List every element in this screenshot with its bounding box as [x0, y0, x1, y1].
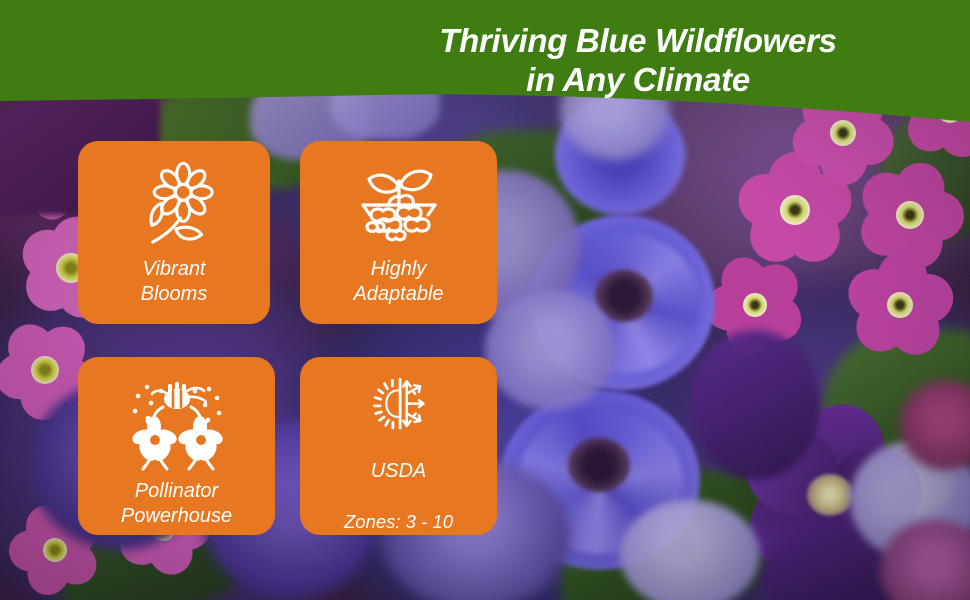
feature-card-label: Vibrant Blooms [141, 257, 208, 307]
feature-card-label: Pollinator Powerhouse [121, 479, 232, 529]
marketing-banner: Thriving Blue Wildflowers in Any Climate… [0, 0, 970, 600]
feature-card-pollinator-powerhouse[interactable]: Pollinator Powerhouse [78, 357, 275, 535]
feature-card-label: USDA Zones: 3 - 10 [344, 434, 453, 535]
usda-label-line: USDA [371, 460, 427, 482]
sun-snowflake-icon [349, 377, 449, 430]
seedling-in-rocky-soil-icon [349, 161, 449, 253]
feature-card-vibrant-blooms[interactable]: Vibrant Blooms [78, 141, 270, 324]
page-title: Thriving Blue Wildflowers in Any Climate [328, 21, 948, 100]
feature-card-label: Highly Adaptable [353, 257, 443, 307]
bee-pollinating-flowers-icon [121, 377, 233, 475]
daisy-flower-icon [128, 161, 220, 253]
feature-card-usda-zones[interactable]: USDA Zones: 3 - 10 [300, 357, 497, 535]
feature-card-highly-adaptable[interactable]: Highly Adaptable [300, 141, 497, 324]
usda-zones-range: Zones: 3 - 10 [344, 511, 453, 532]
